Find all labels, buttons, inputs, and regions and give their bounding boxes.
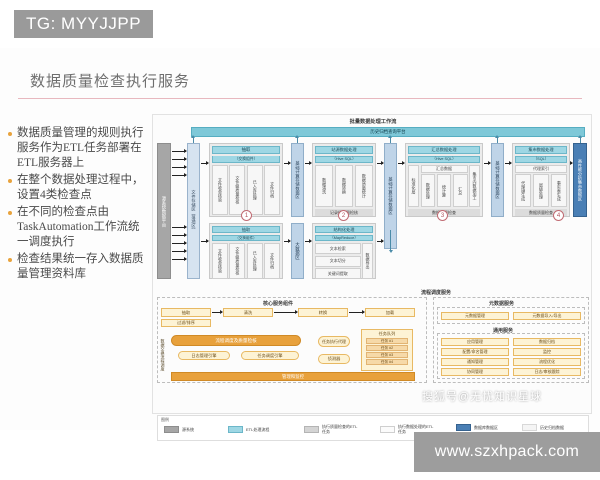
footer-url: www.szxhpack.com (435, 443, 579, 461)
task-queue-item: 任务 #2 (366, 345, 408, 351)
legend-label: 源系统 (182, 427, 194, 432)
scheduling-side-label: 数据交换流程调度 (158, 331, 167, 379)
flow-arrow (172, 167, 186, 168)
bullet-text: 在整个数据处理过程中，设置4类检查点 (17, 173, 148, 203)
scheduling-engine-main: 流程调度及质量检核 (171, 335, 301, 346)
legend-label: 历史归档数据 (540, 425, 570, 430)
bullet-text: 在不同的检查点由TaskAutomation工作流统一调度执行 (17, 205, 148, 250)
stage-2-panel: 站源数据处理 （Hive SQL） 数据清洗 数据转换 数据质量统计 记录级质量… (312, 143, 376, 217)
stage-1-header: 抽取 (212, 146, 280, 154)
mapreduce-item: 文本切分 (315, 256, 361, 267)
watermark: 搜狐号@无忧知识星球 (422, 388, 542, 404)
zone-column-1: 基础计算存储数据区 (291, 143, 304, 217)
footer-bar: www.szxhpack.com (414, 432, 600, 472)
checkpoint-badge: 3 (437, 210, 448, 221)
stage-1-col: 文件归档 (264, 165, 280, 215)
task-agent: 任务执行代理 (318, 336, 350, 347)
second-extract-panel: 抽取 （交换组件） 文件收单核验 文件级质量检核 已入库处理 文件归档 (209, 223, 283, 279)
page-title: 数据质量检查执行服务 (30, 70, 190, 91)
list-item: 检查结果统一存入数据质量管理资料库 (8, 252, 148, 282)
stage-4-group-label: 代理索引 (515, 165, 567, 173)
flow-arrow (172, 159, 186, 160)
stage-3-col: 数据处理 (421, 174, 436, 207)
bullet-text: 检查结果统一存入数据质量管理资料库 (17, 252, 148, 282)
flow-arrow (172, 235, 186, 236)
flow-arrow (201, 163, 208, 164)
common-service-item: 日志/审核跟踪 (513, 368, 581, 376)
tg-banner-label: TG: MYYJJPP (26, 14, 141, 33)
flow-arrow (571, 163, 572, 164)
up-arrow (390, 230, 391, 250)
stage-1-col: 已入库处理 (247, 165, 263, 215)
common-service-item: 流程优化 (513, 358, 581, 366)
legend-label: ETL处理流程 (246, 427, 269, 432)
second-extract-col: 文件归档 (264, 243, 280, 279)
flow-arrow (377, 241, 383, 242)
flow-arrow (172, 227, 186, 228)
bullet-dot-icon (8, 252, 17, 282)
stage-1-col: 文件收单核验 (212, 165, 228, 215)
list-item: 在不同的检查点由TaskAutomation工作流统一调度执行 (8, 205, 148, 250)
common-service-item: 协同管理 (441, 368, 509, 376)
stage-3-header: 汇总数据处理 (408, 146, 480, 154)
flow-arrow (305, 163, 311, 164)
flow-arrow (505, 163, 511, 164)
stage-2-col: 数据质量统计 (355, 165, 373, 207)
second-extract-header: 抽取 (212, 226, 280, 233)
flow-arrow (201, 241, 208, 242)
monitor-bar: 管理和监控 (171, 372, 415, 381)
mapreduce-panel: 结构化处理 （MapReduce） 文本检索 文本切分 关键词提取 数据导出 (312, 223, 376, 279)
scheduling-title: 流程调度服务 (421, 289, 451, 296)
slide-canvas: 数据质量检查执行服务 数据质量管理的规则执行服务作为ETL任务部署在ETL服务器… (0, 48, 600, 430)
stage-3-panel: 汇总数据处理 （Hive SQL） 标准化层 汇总数据 数据处理 统计算 汇总 … (405, 143, 483, 217)
stage-1-col: 文件级质量检核 (229, 165, 245, 215)
list-item: 数据质量管理的规则执行服务作为ETL任务部署在ETL服务器上 (8, 126, 148, 171)
legend-swatch (380, 426, 395, 433)
common-service-item: 监控 (513, 348, 581, 356)
stage-4-subheader: （SQL） (515, 156, 567, 163)
metadata-item: 元数据管理 (441, 312, 509, 320)
stage-3-col: 统计算 (437, 174, 452, 207)
scheduling-engine-right: 任务调度引擎 (241, 351, 299, 360)
legend-item: ETL处理流程 (228, 426, 269, 433)
bullet-dot-icon (8, 126, 17, 171)
bullet-list: 数据质量管理的规则执行服务作为ETL任务部署在ETL服务器上 在整个数据处理过程… (8, 126, 148, 284)
common-service-item: 配置/命名管理 (441, 348, 509, 356)
stage-4-col: 层级处理 (533, 174, 549, 207)
checkpoint-badge: 4 (553, 210, 564, 221)
legend-label: 数据库数据区 (474, 425, 500, 430)
mapreduce-item: 关键词提取 (315, 268, 361, 279)
stage-3-col: 汇总 (453, 174, 468, 207)
stage-2-subheader: （Hive SQL） (315, 156, 373, 163)
stage-4-panel: 集市数据处理 （SQL） 代理索引 代理键生成 层级处理 事实表生成 数据质量检… (512, 143, 570, 217)
task-queue-item: 任务 #3 (366, 352, 408, 358)
flow-arrow (377, 163, 383, 164)
architecture-diagram: 批量数据处理工作流 历史归档查询平台 源系统数据平台 文件存储区（落地区） 抽取… (152, 114, 592, 414)
legend-swatch (228, 426, 243, 433)
metadata-item: 元数据导入/导出 (513, 312, 581, 320)
task-queue-item: 任务 #1 (366, 338, 408, 344)
stage-2-col: 数据清洗 (315, 165, 333, 207)
core-component: 清洗 (223, 308, 273, 317)
checkpoint-badge: 1 (241, 210, 252, 221)
flow-arrow (172, 151, 186, 152)
legend-swatch (522, 424, 537, 431)
legend-item: 数据库数据区 (456, 424, 500, 431)
up-arrow (390, 138, 391, 143)
metadata-title: 元数据服务 (489, 300, 514, 307)
task-queue-title: 任务队列 (362, 330, 412, 337)
market-data-zone: 高性能分析集市数据区 (573, 143, 587, 217)
common-service-item: 数据归档 (513, 338, 581, 346)
core-component: 转换 (298, 308, 348, 317)
bullet-dot-icon (8, 173, 17, 203)
title-divider (18, 98, 582, 99)
legend-item: 历史归档数据 (522, 424, 570, 431)
flow-arrow (172, 175, 186, 176)
bullet-text: 数据质量管理的规则执行服务作为ETL任务部署在ETL服务器上 (17, 126, 148, 171)
flow-arrow (172, 251, 186, 252)
flow-arrow (212, 312, 222, 313)
legend-swatch (164, 426, 179, 433)
core-component-extra: 过滤/排序 (161, 319, 211, 327)
flow-arrow (274, 312, 297, 313)
stage-4-col: 事实表生成 (551, 174, 567, 207)
mapreduce-side-col: 数据导出 (362, 243, 373, 279)
stage-3-side-col: 集市内数据加工 (469, 165, 480, 207)
stage-3-subheader: （Hive SQL） (408, 156, 480, 163)
up-arrow (193, 138, 194, 143)
core-component: 抽取 (161, 308, 211, 317)
mapreduce-header: 结构化处理 (315, 226, 373, 233)
scheduling-engine-left: 日志管理引擎 (178, 351, 230, 360)
tg-banner: TG: MYYJJPP (14, 10, 153, 38)
workflow-title: 批量数据处理工作流 (283, 118, 463, 125)
landing-zone-column: 文件存储区（落地区） (187, 143, 200, 279)
second-extract-col: 文件收单核验 (212, 243, 228, 279)
legend-swatch (304, 426, 319, 433)
flow-arrow (398, 163, 404, 164)
flow-arrow (484, 163, 490, 164)
stage-1-panel: 抽取 （交换组件） 文件收单核验 文件级质量检核 已入库处理 文件归档 (209, 143, 283, 217)
stage-4-col: 代理键生成 (515, 174, 531, 207)
stage-2-col: 数据转换 (335, 165, 353, 207)
legend-item: 执行质量检查的ETL任务 (304, 424, 358, 434)
legend-swatch (456, 424, 471, 431)
flow-arrow (172, 243, 186, 244)
flow-arrow (284, 241, 290, 242)
common-service-item: 应用管理 (441, 338, 509, 346)
checkpoint-badge: 2 (338, 210, 349, 221)
source-system-column: 源系统数据平台 (157, 143, 171, 279)
list-item: 在整个数据处理过程中，设置4类检查点 (8, 173, 148, 203)
stage-2-header: 站源数据处理 (315, 146, 373, 154)
up-arrow (297, 138, 298, 143)
detector: 侦测器 (318, 354, 350, 364)
stage-3-group-label: 汇总数据 (421, 165, 468, 173)
big-data-zone: 大数据区 (291, 223, 304, 279)
stage-3-col: 标准化层 (408, 165, 419, 207)
core-components-title: 核心服务组件 (263, 300, 293, 307)
flow-arrow (172, 259, 186, 260)
flow-arrow (305, 241, 311, 242)
mapreduce-item: 文本检索 (315, 243, 361, 254)
core-component: 加载 (365, 308, 415, 317)
mapreduce-subheader: （MapReduce） (315, 235, 373, 241)
flow-arrow (349, 312, 364, 313)
stage-1-subheader: （交换组件） (212, 156, 280, 163)
up-arrow (497, 138, 498, 143)
second-extract-col: 已入库处理 (247, 243, 263, 279)
common-service-item: 通知管理 (441, 358, 509, 366)
flow-arrow (284, 163, 290, 164)
legend-label: 执行质量检查的ETL任务 (322, 424, 358, 434)
zone-column-3: 基础计算存储数据区 (491, 143, 504, 217)
stage-4-header: 集市数据处理 (515, 146, 567, 154)
bullet-dot-icon (8, 205, 17, 250)
legend-title: 图例 (161, 417, 169, 423)
second-extract-col: 文件级质量检核 (229, 243, 245, 279)
up-arrow (580, 138, 581, 143)
task-queue-item: 任务 #4 (366, 359, 408, 365)
task-queue-panel: 任务队列 任务 #1 任务 #2 任务 #3 任务 #4 (361, 329, 413, 371)
second-extract-subheader: （交换组件） (212, 235, 280, 241)
legend-item: 源系统 (164, 426, 194, 433)
